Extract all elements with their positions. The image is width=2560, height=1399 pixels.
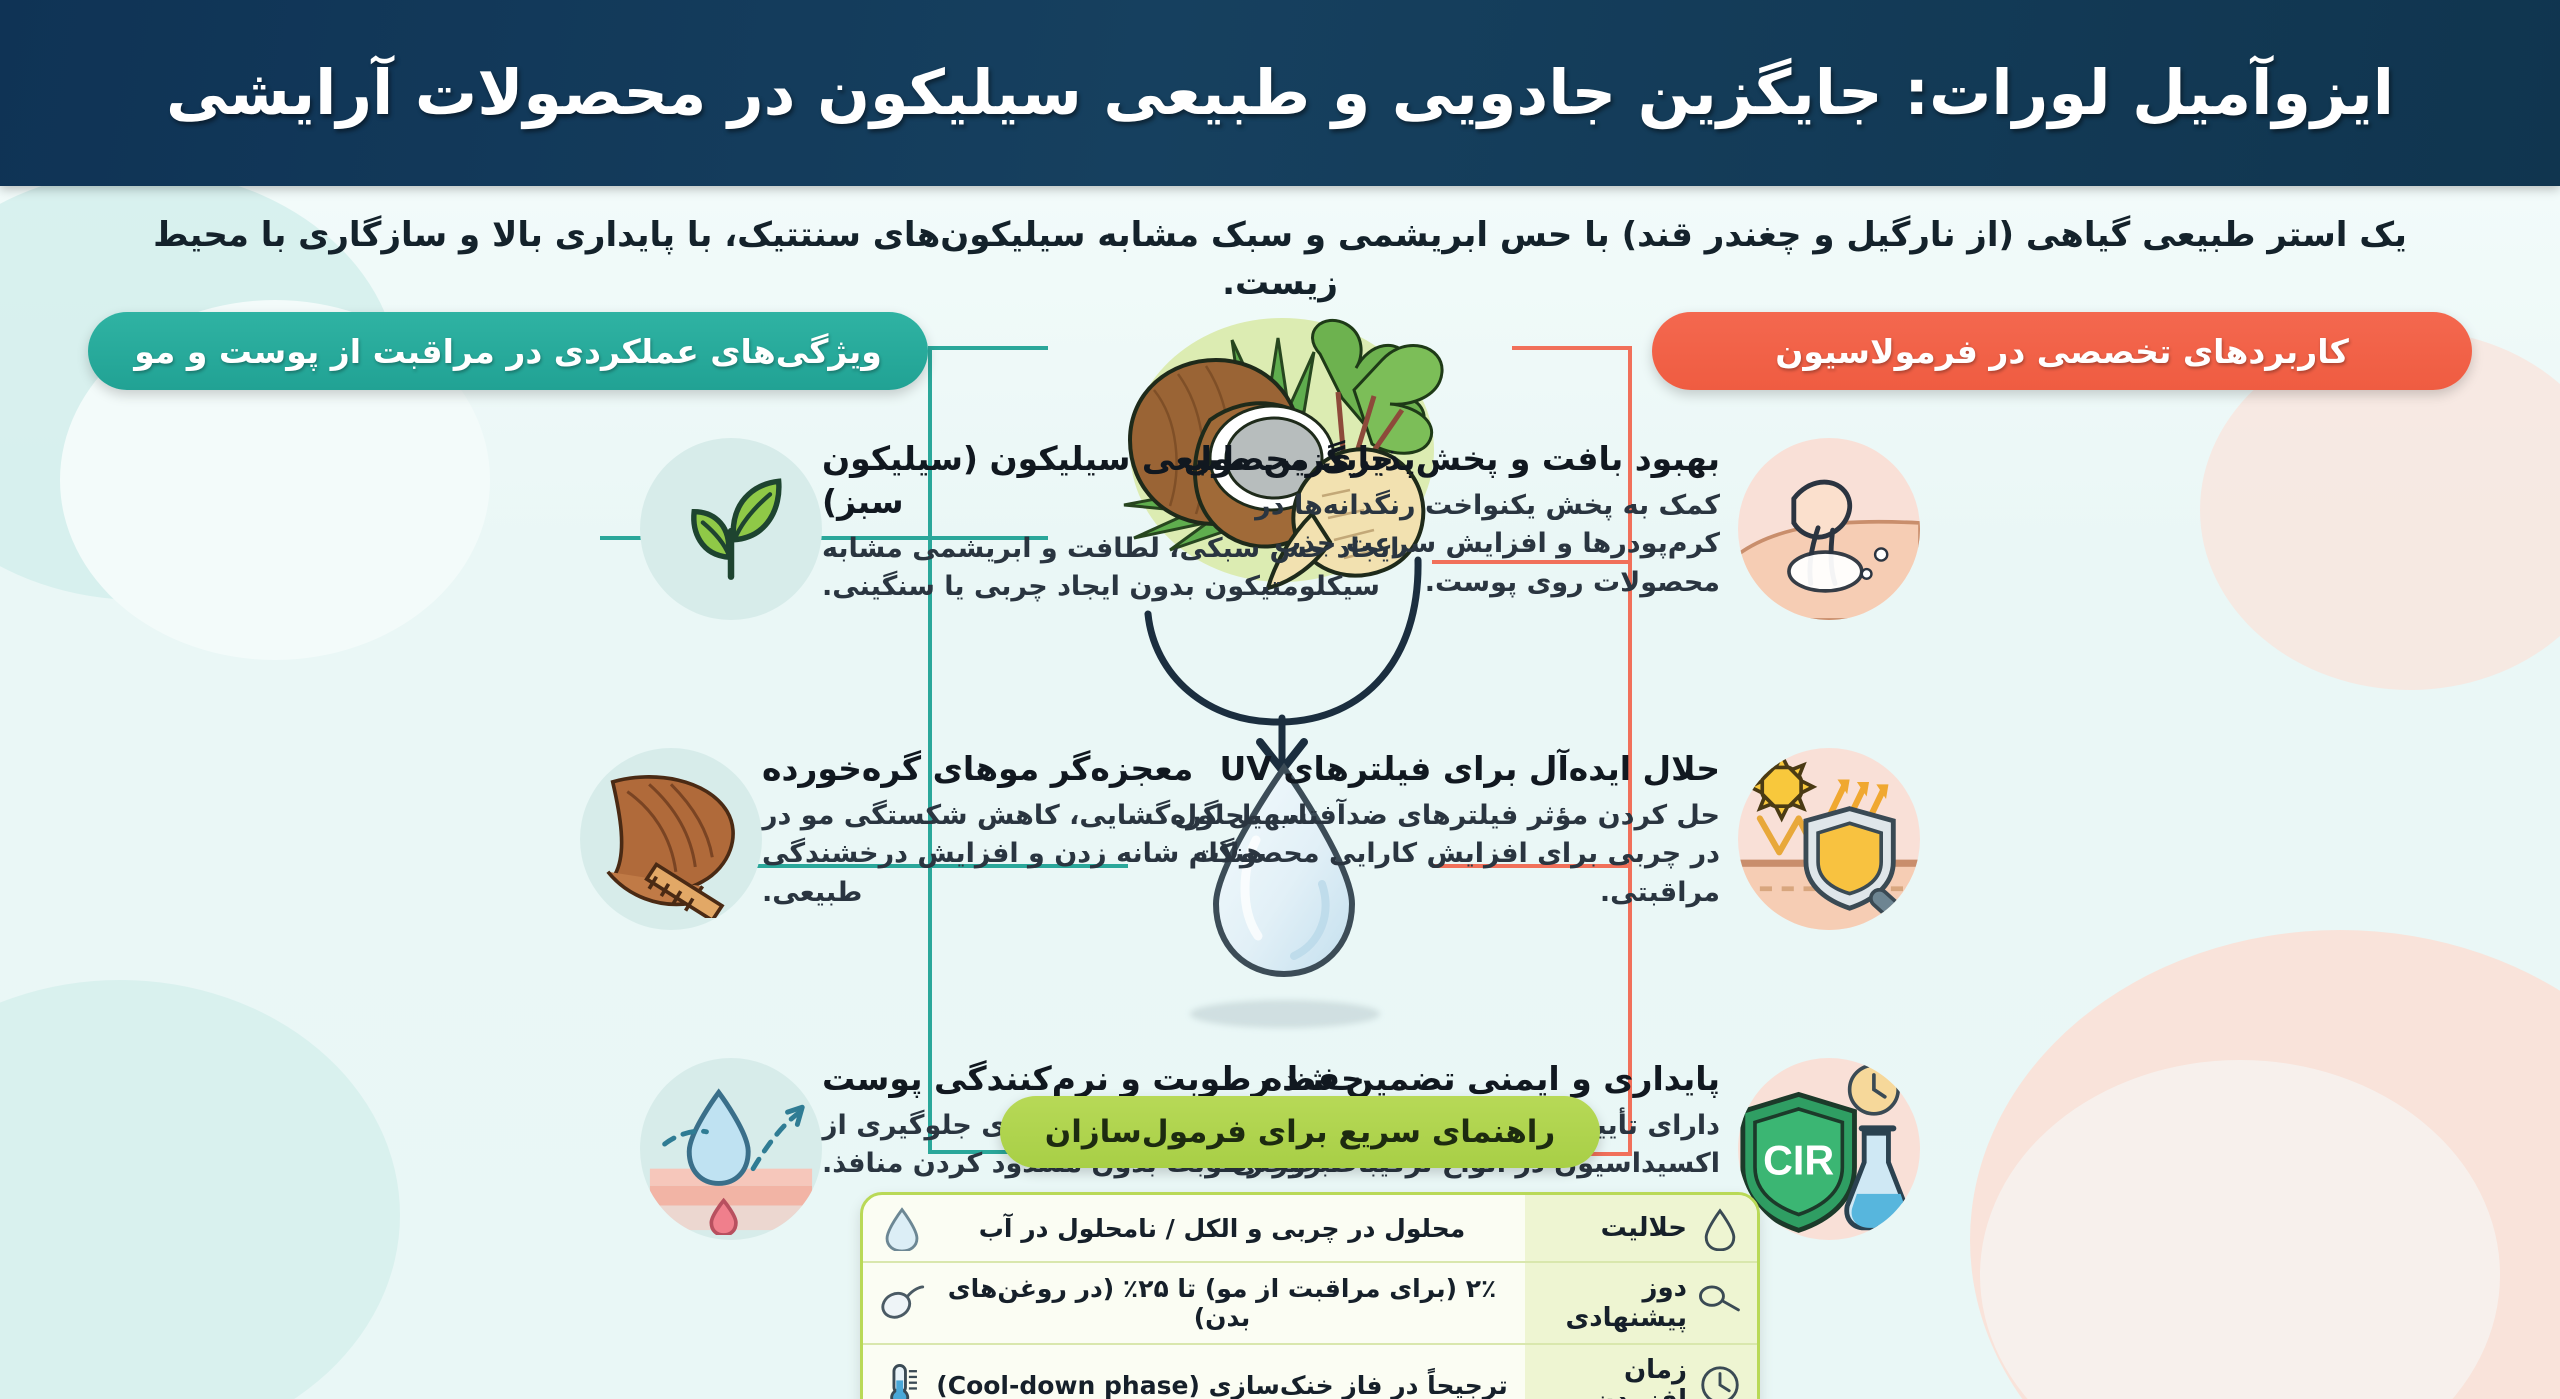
droplet-shadow: [1190, 1000, 1380, 1028]
quick-guide-row-1-key: حلالیت: [1601, 1213, 1687, 1243]
quick-guide-row-3-value-cell: ترجیحاً در فاز خنک‌سازی (Cool-down phase…: [863, 1345, 1525, 1399]
quick-guide-heading: راهنمای سریع برای فرمول‌سازان: [1000, 1096, 1600, 1168]
table-row: حلالیت محلول در چربی و الکل / نامحلول در…: [863, 1195, 1757, 1263]
page-title: ایزوآمیل لورات: جایگزین جادویی و طبیعی س…: [106, 54, 2454, 132]
left-feature-3-icon-circle: [640, 1058, 822, 1240]
right-feature-2-title: حلال ایده‌آل برای فیلترهای UV: [1140, 748, 1720, 791]
right-feature-1-icon-circle: [1738, 438, 1920, 620]
right-feature-2-icon-circle: [1738, 748, 1920, 930]
connector-left-top-stub: [928, 346, 1048, 350]
cir-safety-icon: CIR: [1738, 1058, 1920, 1240]
left-feature-2-icon-circle: [580, 748, 762, 930]
right-section-heading-label: کاربردهای تخصصی در فرمولاسیون: [1775, 332, 2349, 371]
skin-hydration-icon: [645, 1063, 817, 1235]
page-subtitle: یک استر طبیعی گیاهی (از نارگیل و چغندر ق…: [0, 186, 2560, 317]
leaf-icon: [666, 464, 796, 594]
measuring-spoon-icon: [879, 1280, 925, 1326]
quick-guide-row-2-key: دوز پیشنهادی: [1539, 1273, 1687, 1333]
right-feature-2-text: حلال ایده‌آل برای فیلترهای UV حل کردن مؤ…: [1140, 748, 1720, 912]
right-section-heading: کاربردهای تخصصی در فرمولاسیون: [1652, 312, 2472, 390]
cream-application-icon: [1738, 438, 1920, 620]
quick-guide-row-2-value-cell: ۲٪ (برای مراقبت از مو) تا ۲۵٪ (در روغن‌ه…: [863, 1263, 1525, 1343]
thermometer-icon: [879, 1362, 925, 1399]
right-feature-1-title: بهبود بافت و پخش‌پذیری محصول: [1140, 438, 1720, 481]
quick-guide-row-3-value: ترجیحاً در فاز خنک‌سازی (Cool-down phase…: [935, 1371, 1509, 1399]
right-feature-2: حلال ایده‌آل برای فیلترهای UV حل کردن مؤ…: [1140, 748, 1920, 930]
right-feature-1-text: بهبود بافت و پخش‌پذیری محصول کمک به پخش …: [1140, 438, 1720, 602]
left-section-heading-label: ویژگی‌های عملکردی در مراقبت از پوست و مو: [134, 332, 882, 371]
quick-guide-table: حلالیت محلول در چربی و الکل / نامحلول در…: [860, 1192, 1760, 1399]
quick-guide-row-3-key: زمان افزودن: [1539, 1355, 1687, 1399]
uv-shield-icon: [1738, 748, 1920, 930]
spoon-icon: [1697, 1280, 1743, 1326]
quick-guide-row-1-value: محلول در چربی و الکل / نامحلول در آب: [935, 1214, 1509, 1243]
quick-guide-row-1-key-cell: حلالیت: [1525, 1195, 1757, 1261]
quick-guide-row-3-key-cell: زمان افزودن: [1525, 1345, 1757, 1399]
table-row: زمان افزودن ترجیحاً در فاز خنک‌سازی (Coo…: [863, 1345, 1757, 1399]
clock-icon: [1697, 1362, 1743, 1399]
quick-guide-row-2-key-cell: دوز پیشنهادی: [1525, 1263, 1757, 1343]
left-section-heading: ویژگی‌های عملکردی در مراقبت از پوست و مو: [88, 312, 928, 390]
svg-text:CIR: CIR: [1763, 1137, 1834, 1183]
quick-guide-heading-label: راهنمای سریع برای فرمول‌سازان: [1045, 1114, 1556, 1150]
droplet-outline-icon: [879, 1205, 925, 1251]
right-feature-3-icon-circle: CIR: [1738, 1058, 1920, 1240]
hair-comb-icon: [586, 760, 756, 918]
right-feature-2-desc: حل کردن مؤثر فیلترهای ضدآفتاب محلول در چ…: [1140, 797, 1720, 912]
table-row: دوز پیشنهادی ۲٪ (برای مراقبت از مو) تا ۲…: [863, 1263, 1757, 1345]
right-feature-3-title: پایداری و ایمنی تضمین شده: [1140, 1058, 1720, 1101]
quick-guide-row-1-value-cell: محلول در چربی و الکل / نامحلول در آب: [863, 1195, 1525, 1261]
right-feature-1-desc: کمک به پخش یکنواخت رنگدانه‌ها در کرم‌پود…: [1140, 487, 1720, 602]
droplet-icon: [1697, 1205, 1743, 1251]
quick-guide-row-2-value: ۲٪ (برای مراقبت از مو) تا ۲۵٪ (در روغن‌ه…: [935, 1274, 1509, 1332]
page-header: ایزوآمیل لورات: جایگزین جادویی و طبیعی س…: [0, 0, 2560, 186]
sun-icon: [1750, 755, 1813, 818]
left-feature-1-icon-circle: [640, 438, 822, 620]
connector-right-top-stub: [1512, 346, 1632, 350]
right-feature-1: بهبود بافت و پخش‌پذیری محصول کمک به پخش …: [1140, 438, 1920, 620]
